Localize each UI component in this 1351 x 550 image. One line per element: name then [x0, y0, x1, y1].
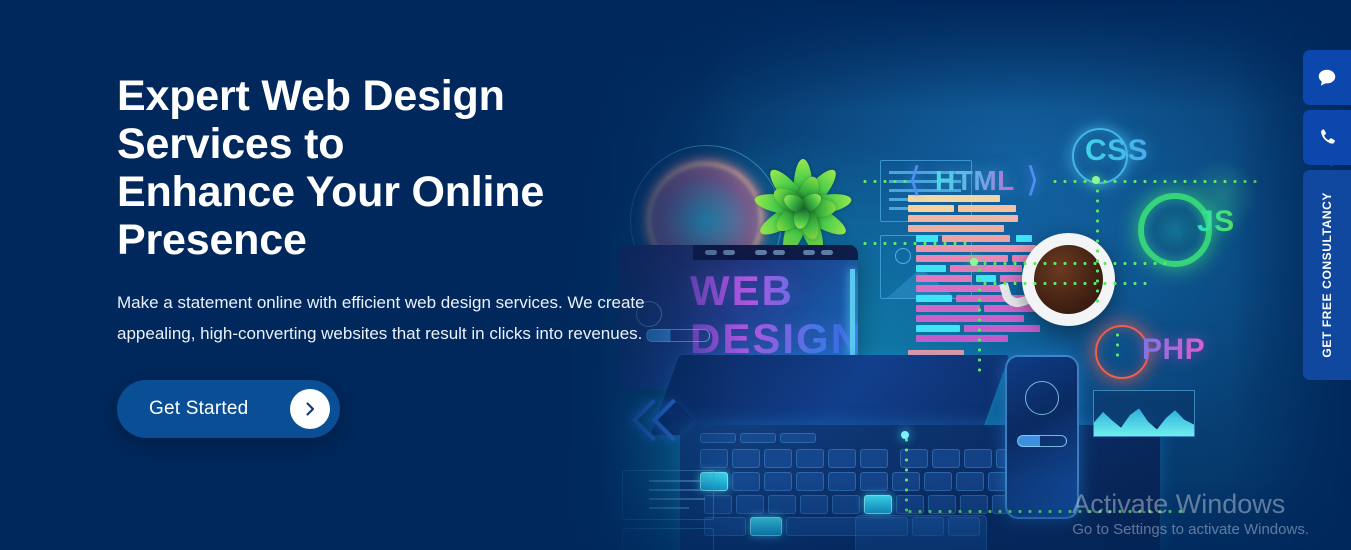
phone-icon	[1317, 127, 1338, 148]
html-label: HTML	[935, 165, 1015, 197]
list-wireframe-card	[622, 470, 714, 520]
laptop-trackpad	[855, 515, 987, 550]
chat-tab-button[interactable]	[1303, 50, 1351, 105]
phone-progress-bar	[1017, 435, 1067, 447]
chart-wave-shape	[1094, 406, 1194, 436]
angle-bracket-open: ⟨	[908, 160, 921, 200]
hero-illustration: WEB DESIGN	[560, 0, 1351, 550]
consultancy-tab-label: GET FREE CONSULTANCY	[1320, 192, 1334, 358]
area-chart-card	[1093, 390, 1195, 437]
text-caret	[850, 269, 855, 361]
connector-node	[1092, 176, 1100, 184]
headline-line: Enhance Your Online	[117, 168, 544, 216]
dotted-connector	[1116, 330, 1119, 360]
dotted-connector	[860, 180, 908, 183]
hero-section: WEB DESIGN	[0, 0, 1351, 550]
php-neon-ring	[1095, 325, 1149, 379]
php-label: PHP	[1142, 333, 1205, 367]
dotted-connector	[980, 282, 1150, 285]
dotted-connector	[978, 265, 981, 375]
dotted-connector	[970, 262, 1170, 265]
headline-line: Expert Web Design	[117, 72, 505, 120]
dotted-connector	[1050, 180, 1260, 183]
floating-side-tabs: GET FREE CONSULTANCY	[1303, 50, 1351, 380]
page-title: Expert Web Design Services to Enhance Yo…	[117, 72, 677, 264]
phone-tab-button[interactable]	[1303, 110, 1351, 165]
angle-bracket-close: ⟩	[1026, 160, 1039, 200]
hero-subtext: Make a statement online with efficient w…	[117, 287, 662, 349]
dotted-connector	[1096, 186, 1099, 306]
hero-copy: Expert Web Design Services to Enhance Yo…	[117, 72, 677, 438]
video-wireframe-card	[622, 528, 714, 550]
js-label: JS	[1197, 205, 1235, 239]
css-label: CSS	[1085, 134, 1148, 168]
coffee-cup-icon	[1022, 233, 1115, 326]
get-started-button[interactable]: Get Started	[117, 380, 340, 438]
headline-line: Services to	[117, 120, 344, 168]
dotted-connector	[905, 435, 908, 515]
web-design-text: WEB DESIGN	[690, 267, 858, 363]
dotted-connector	[860, 242, 970, 245]
headline-line: Presence	[117, 216, 307, 264]
connector-node	[901, 431, 909, 439]
users-group-icon	[1025, 381, 1059, 415]
chat-bubble-icon	[1316, 67, 1338, 89]
get-free-consultancy-tab[interactable]: GET FREE CONSULTANCY	[1303, 170, 1351, 380]
laptop-screen	[650, 355, 1009, 435]
browser-titlebar	[693, 245, 858, 260]
smartphone-mockup	[1005, 355, 1079, 519]
get-started-label: Get Started	[149, 398, 248, 420]
dotted-connector	[905, 510, 1185, 513]
chevron-right-icon	[290, 389, 330, 429]
connector-node	[970, 258, 978, 266]
